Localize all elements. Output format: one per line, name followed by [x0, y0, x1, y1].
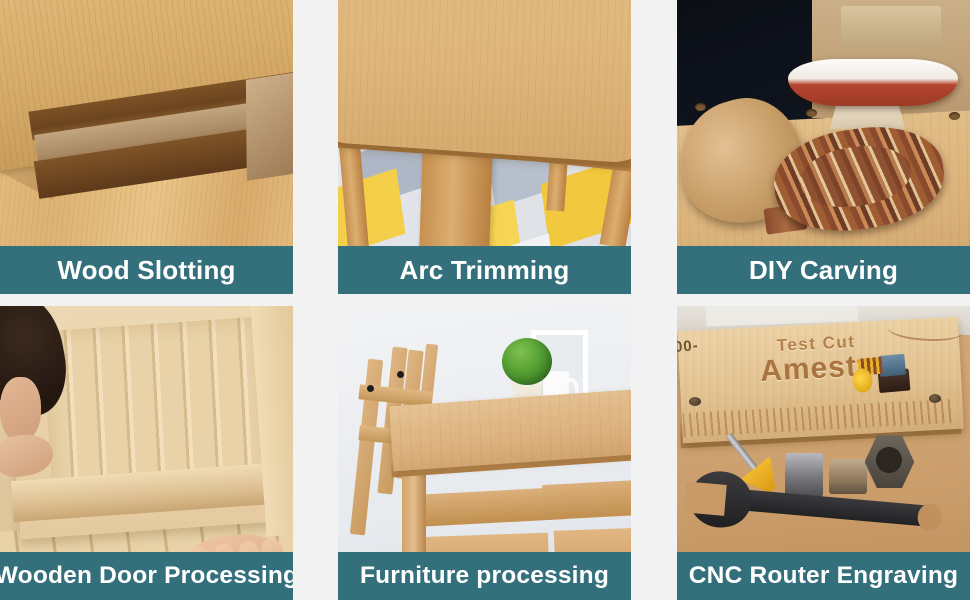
worker-face — [0, 377, 41, 442]
bench-dog-hole — [806, 109, 817, 117]
feature-image-grid: Wood Slotting Arc Trimming — [0, 0, 970, 600]
grid-item-arc-trimming[interactable]: Arc Trimming — [338, 0, 631, 294]
edge-ruler-label: 00- — [677, 337, 699, 356]
board-screw — [689, 397, 701, 406]
caption-wood-slotting: Wood Slotting — [0, 246, 293, 294]
tabletop-surface — [338, 0, 631, 165]
grid-item-diy-carving[interactable]: DIY Carving — [677, 0, 970, 294]
red-white-oval-dish — [788, 59, 958, 106]
wrench-jaw-opening — [683, 480, 727, 515]
grid-item-cnc-router-engraving[interactable]: 00- Test Cut Amesty — [677, 306, 970, 600]
under-table-shelf — [542, 479, 631, 520]
caption-cnc-router-engraving: CNC Router Engraving — [677, 552, 970, 600]
grid-item-wood-slotting[interactable]: Wood Slotting — [0, 0, 293, 294]
potted-plant — [502, 338, 552, 385]
chair-screw-cap — [397, 371, 404, 378]
caption-arc-trimming: Arc Trimming — [338, 246, 631, 294]
plank-tongue — [246, 72, 293, 182]
hold-down-clamp — [848, 353, 910, 396]
wrench-hang-hole — [917, 502, 942, 531]
bench-dog-hole — [695, 103, 706, 111]
background-jig — [841, 6, 941, 47]
wrench-handle — [719, 487, 937, 526]
caption-wooden-door-processing: Wooden Door Processing — [0, 552, 293, 600]
clamp-block — [879, 354, 906, 377]
grid-item-furniture-processing[interactable]: Furniture processing — [338, 306, 631, 600]
caption-furniture-processing: Furniture processing — [338, 552, 631, 600]
grid-item-wooden-door-processing[interactable]: Wooden Door Processing — [0, 306, 293, 600]
caption-diy-carving: DIY Carving — [677, 246, 970, 294]
